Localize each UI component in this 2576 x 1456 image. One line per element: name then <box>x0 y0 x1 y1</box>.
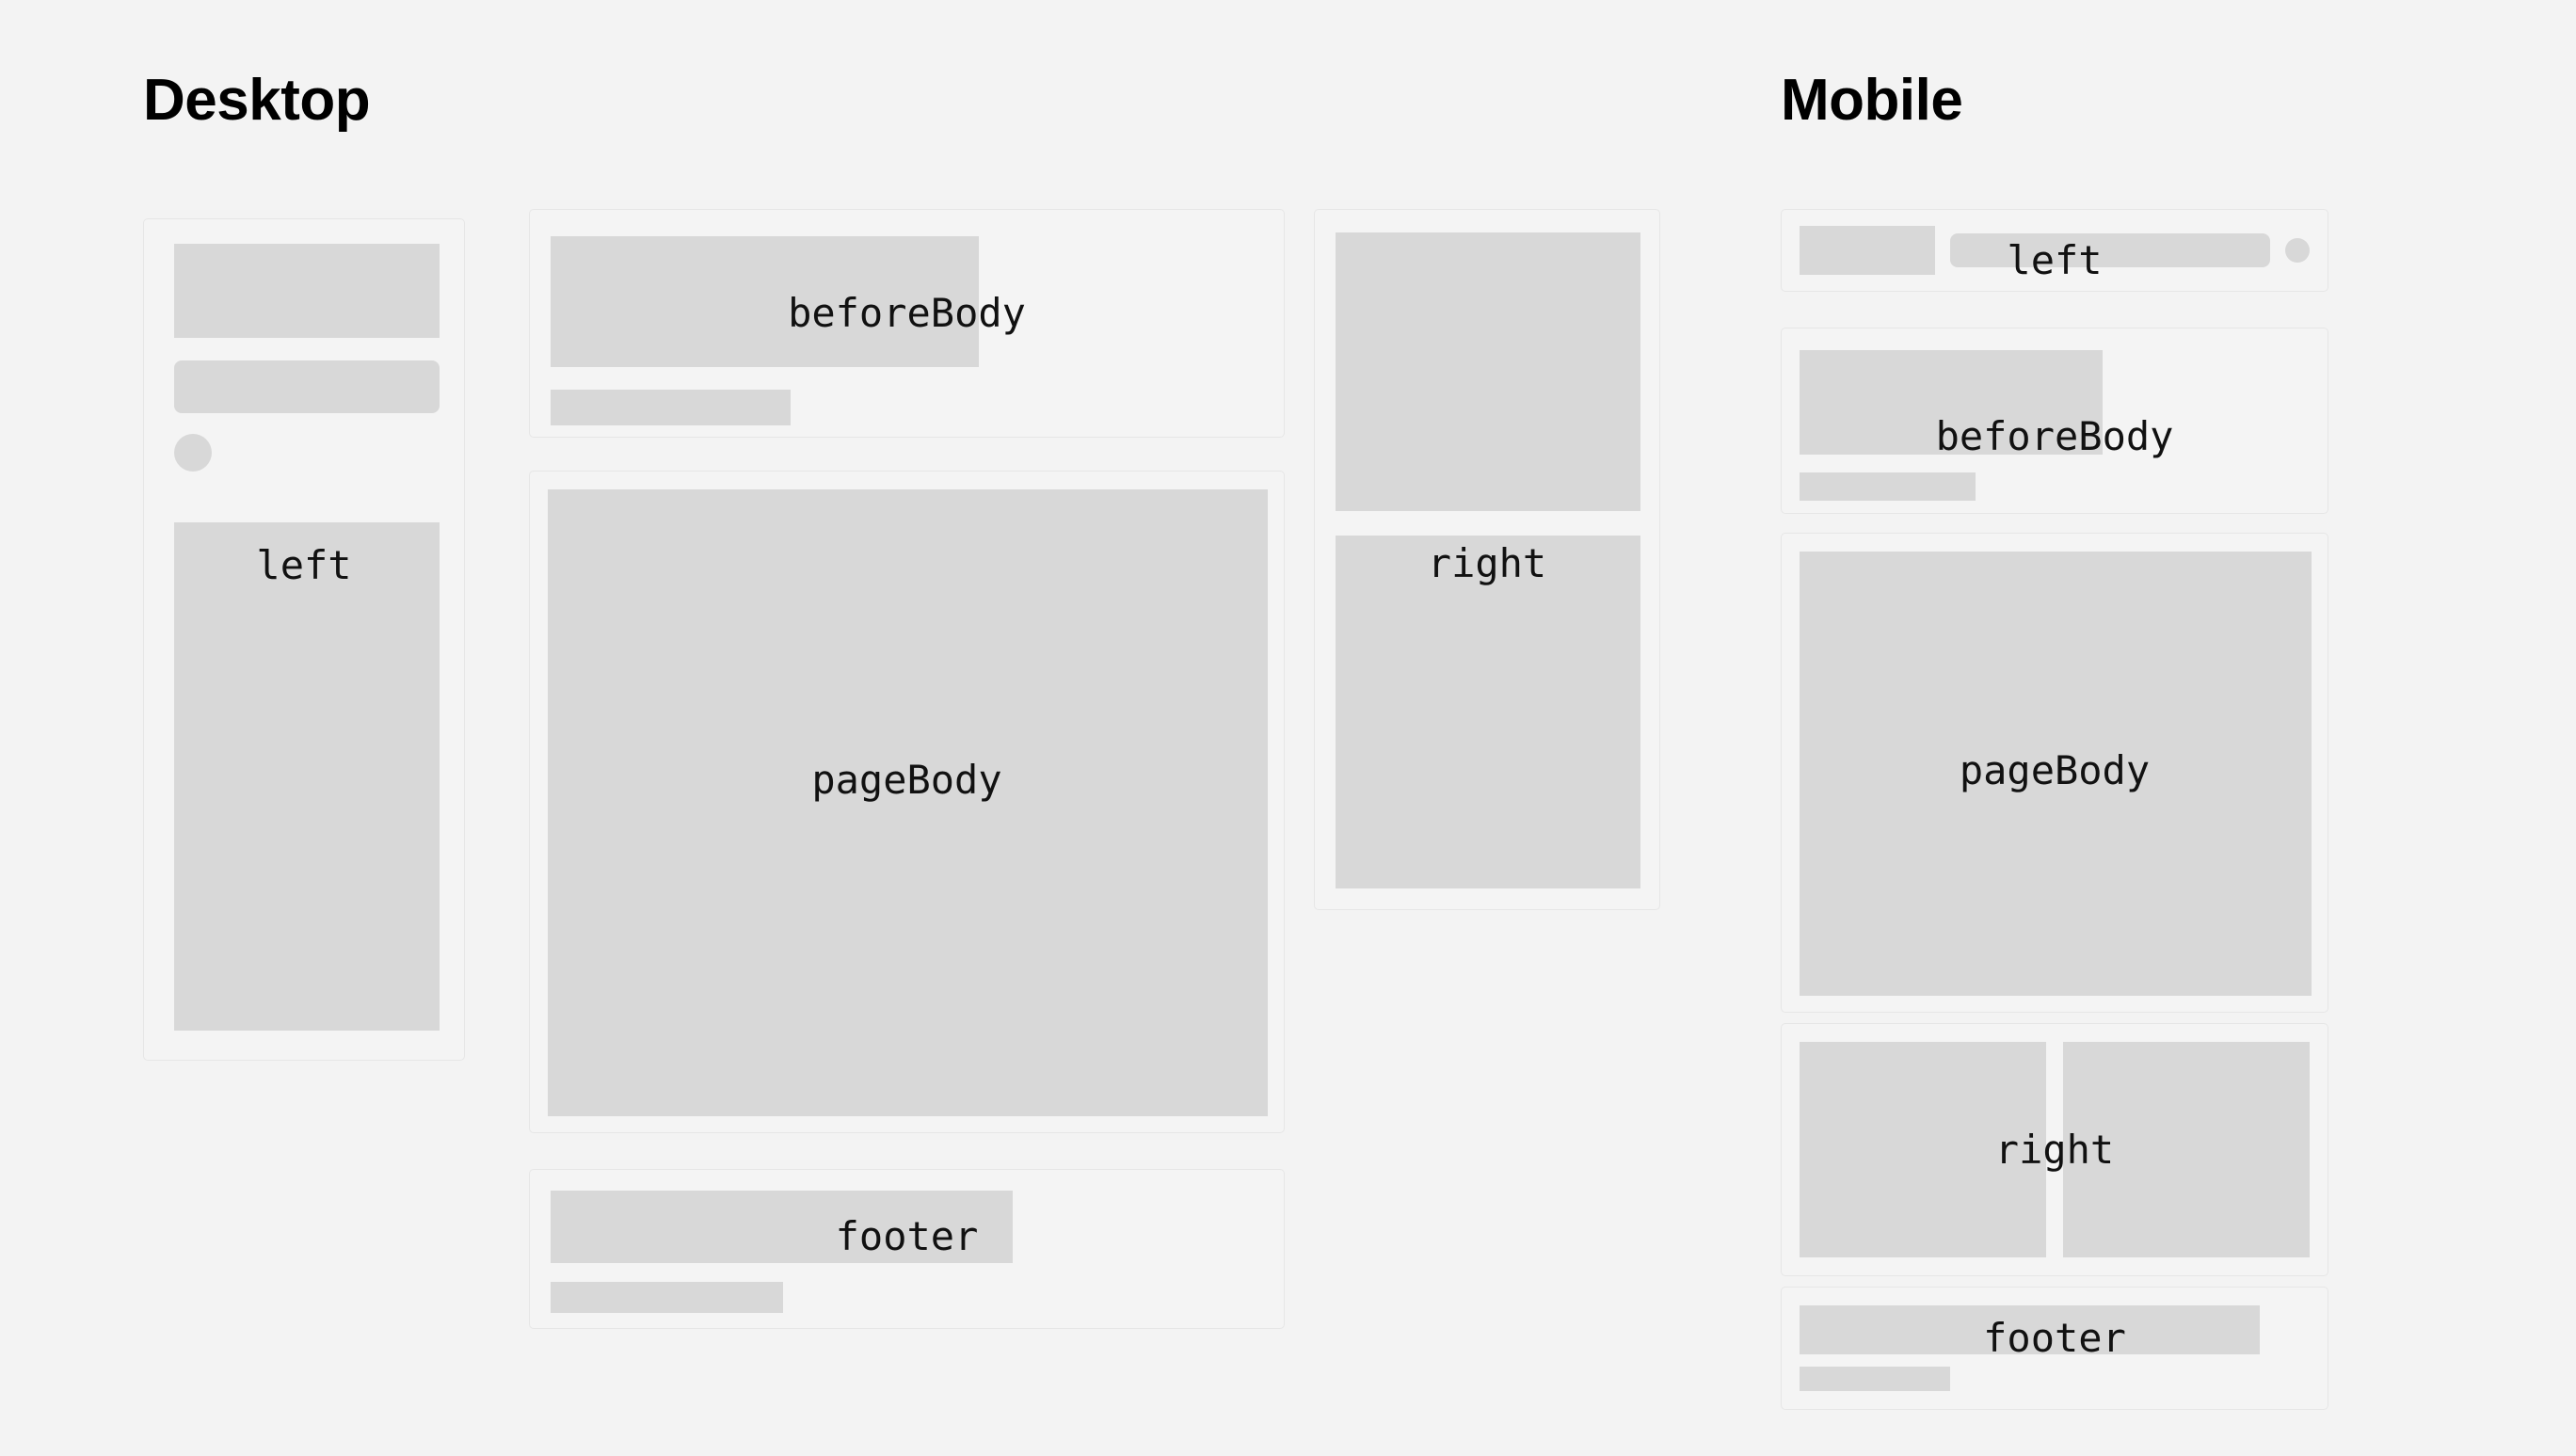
placeholder-bar <box>1800 1367 1950 1391</box>
placeholder-bar <box>551 390 791 425</box>
avatar-placeholder <box>2285 238 2310 263</box>
avatar-placeholder <box>174 434 212 472</box>
desktop-footer-slot[interactable] <box>529 1169 1285 1329</box>
mobile-left-row <box>1800 226 2310 275</box>
mobile-right-slot[interactable] <box>1781 1023 2328 1276</box>
mobile-beforebody-slot[interactable] <box>1781 328 2328 514</box>
placeholder-block <box>2063 1042 2310 1257</box>
mobile-footer-slot[interactable] <box>1781 1287 2328 1410</box>
placeholder-block <box>548 489 1268 1116</box>
placeholder-bar <box>174 360 440 413</box>
desktop-left-slot[interactable] <box>143 218 465 1061</box>
mobile-right-row <box>1800 1042 2310 1257</box>
desktop-right-slot[interactable] <box>1314 209 1660 910</box>
placeholder-block <box>551 236 979 367</box>
placeholder-bar <box>551 1282 783 1313</box>
mobile-left-slot[interactable] <box>1781 209 2328 292</box>
placeholder-block <box>174 522 440 1031</box>
placeholder-block <box>1800 226 1935 275</box>
placeholder-block <box>1336 232 1640 511</box>
placeholder-bar <box>1950 233 2270 267</box>
placeholder-bar <box>1800 472 1976 501</box>
placeholder-block <box>1800 1305 2260 1354</box>
responsive-layout-wireframe: Desktop left beforeBody pageBody right f… <box>0 0 2576 1456</box>
placeholder-block <box>174 244 440 338</box>
mobile-section-title: Mobile <box>1781 72 1962 130</box>
desktop-section-title: Desktop <box>143 72 370 130</box>
mobile-pagebody-slot[interactable] <box>1781 533 2328 1013</box>
placeholder-block <box>1800 552 2312 996</box>
desktop-beforebody-slot[interactable] <box>529 209 1285 438</box>
placeholder-block <box>1336 536 1640 888</box>
placeholder-block <box>1800 1042 2046 1257</box>
placeholder-block <box>1800 350 2103 455</box>
desktop-pagebody-slot[interactable] <box>529 471 1285 1133</box>
placeholder-block <box>551 1191 1013 1263</box>
